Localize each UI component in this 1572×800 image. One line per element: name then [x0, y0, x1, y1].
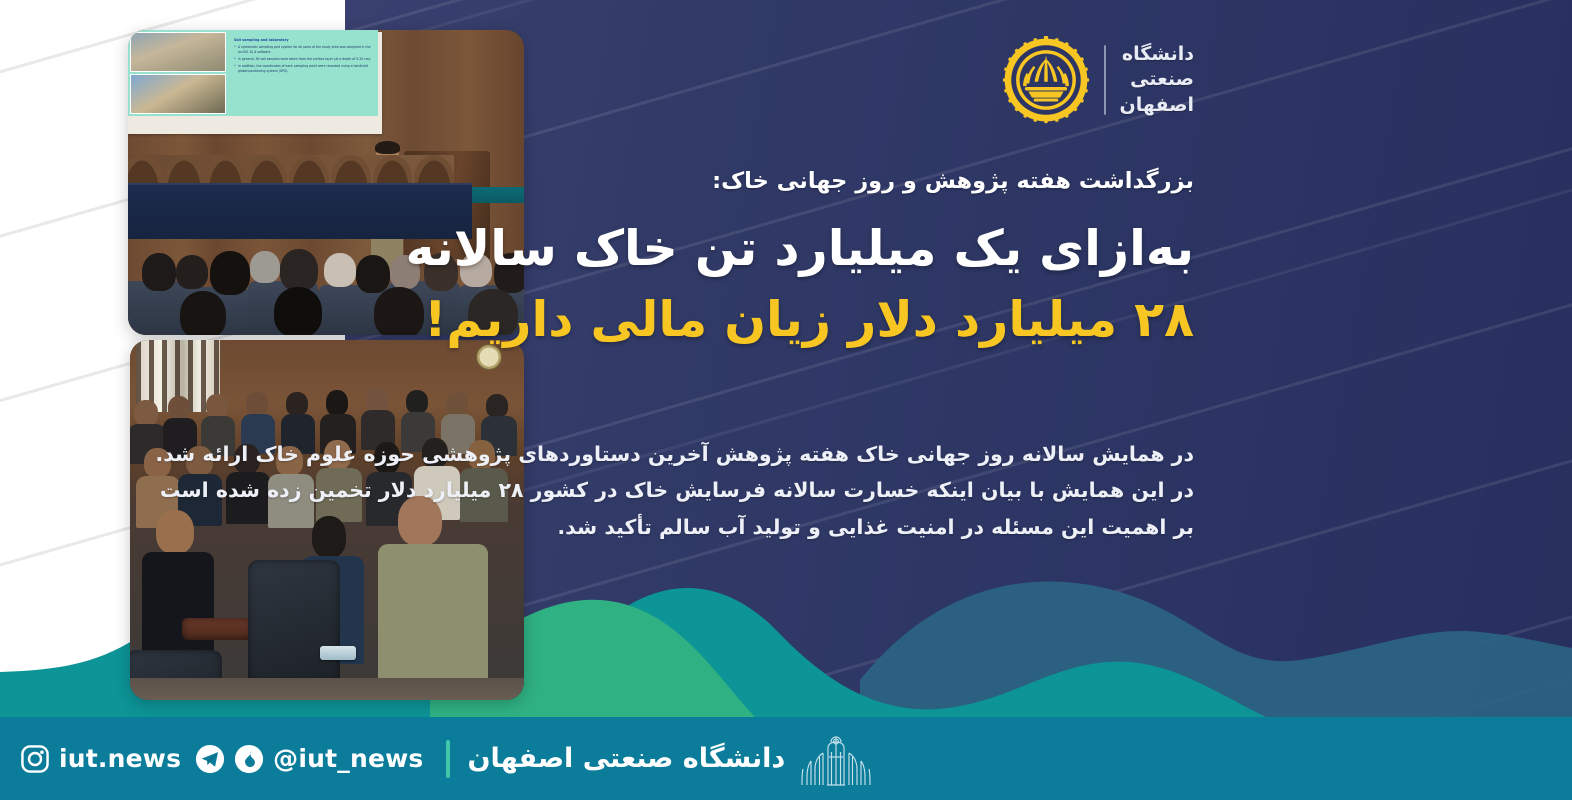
university-name-line: دانشگاه	[1120, 42, 1194, 67]
body-copy: در همایش سالانه روز جهانی خاک هفته پژوهش…	[134, 436, 1194, 545]
phone-on-seat	[320, 646, 356, 660]
iut-building-mark-icon	[801, 731, 871, 787]
seat-armrest	[182, 618, 252, 640]
messenger-handle[interactable]: @iut_news	[273, 744, 423, 773]
telegram-icon[interactable]	[195, 744, 225, 774]
projection-screen: Soil sampling and laboratory A systemati…	[128, 32, 382, 134]
instagram-group[interactable]: iut.news	[20, 744, 181, 774]
projected-slide: Soil sampling and laboratory A systemati…	[128, 30, 378, 116]
footer-bar: iut.news @iut_news دانشگاه صنعتی اصفهان	[0, 717, 1572, 800]
instagram-handle[interactable]: iut.news	[59, 744, 181, 773]
headline-line-1: به‌ازای یک میلیارد تن خاک سالانه	[134, 216, 1194, 281]
diagonal-stripe-pattern-navy	[345, 0, 1572, 800]
slide-bullet: In general, 90 soil samples were taken f…	[234, 57, 372, 62]
body-line: در همایش سالانه روز جهانی خاک هفته پژوهش…	[134, 436, 1194, 472]
footer-university-label: دانشگاه صنعتی اصفهان	[468, 743, 786, 774]
slide-bullet: A systematic sampling grid system for al…	[234, 45, 372, 55]
iut-gear-emblem-icon	[1002, 36, 1090, 124]
slide-field-photos	[128, 30, 228, 116]
auditorium-seat	[248, 560, 340, 682]
university-name-line: صنعتی	[1120, 67, 1194, 92]
slide-photo-soil-sampling-a	[130, 32, 226, 72]
slide-title: Soil sampling and laboratory	[234, 38, 372, 42]
university-name-line: اصفهان	[1120, 93, 1194, 118]
diagonal-stripe-pattern-navy-secondary	[345, 0, 1572, 800]
headline-line-2: ۲۸ میلیارد دلار زیان مالی داریم!	[134, 287, 1194, 352]
floor	[130, 678, 524, 700]
university-logo: دانشگاه صنعتی اصفهان	[1002, 36, 1194, 124]
body-line: در این همایش با بیان اینکه خسارت سالانه …	[134, 472, 1194, 508]
kicker-text: بزرگداشت هفته پژوهش و روز جهانی خاک:	[712, 168, 1194, 194]
bale-messenger-icon[interactable]	[234, 744, 264, 774]
poster-canvas: Soil sampling and laboratory A systemati…	[0, 0, 1572, 800]
slide-bullet: In addition, the coordinates of each sam…	[234, 64, 372, 74]
instagram-icon[interactable]	[20, 744, 50, 774]
messenger-group[interactable]: @iut_news	[195, 744, 423, 774]
university-name: دانشگاه صنعتی اصفهان	[1120, 42, 1194, 118]
footer-divider	[446, 740, 450, 778]
slide-photo-soil-sampling-b	[130, 74, 226, 114]
logo-divider	[1104, 45, 1106, 115]
right-navy-panel	[345, 0, 1572, 800]
page-title: به‌ازای یک میلیارد تن خاک سالانه ۲۸ میلی…	[134, 216, 1194, 352]
body-line: بر اهمیت این مسئله در امنیت غذایی و تولی…	[134, 509, 1194, 545]
